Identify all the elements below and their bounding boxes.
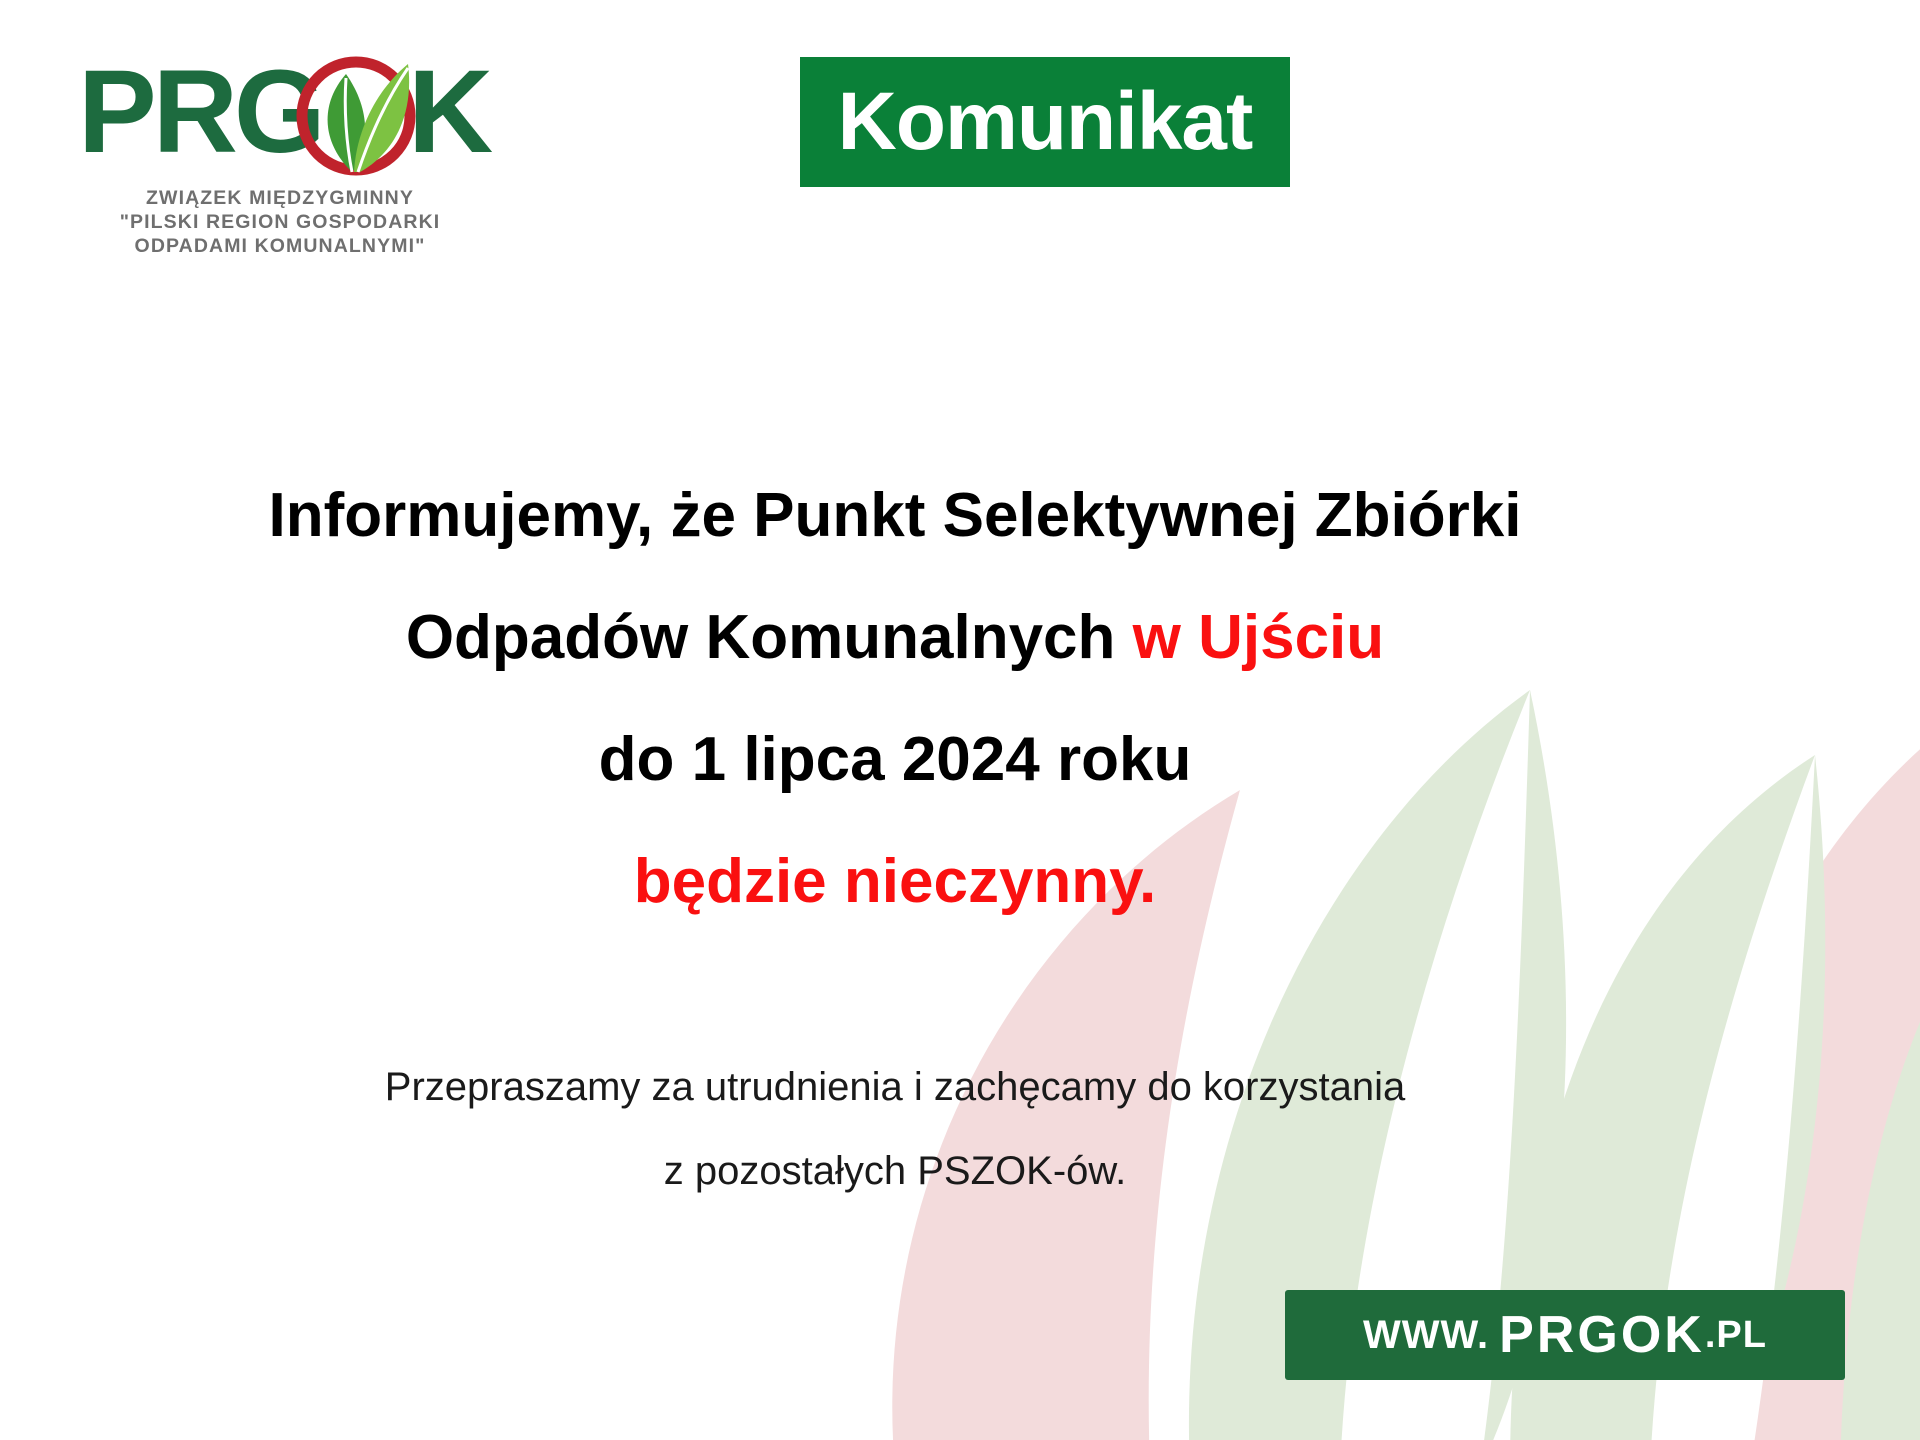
- website-badge-www: WWW.: [1363, 1313, 1489, 1358]
- website-badge-brand: PRGOK: [1499, 1305, 1705, 1365]
- apology-note-line-2: z pozostałych PSZOK-ów.: [0, 1129, 1790, 1213]
- announcement-page: PRG K ZWIĄZEK MIĘDZYGMINNY "PILSKI REGIO…: [0, 0, 1920, 1440]
- message-line-1: Informujemy, że Punkt Selektywnej Zbiórk…: [0, 455, 1790, 577]
- message-line-4: będzie nieczynny.: [0, 821, 1790, 943]
- apology-note: Przepraszamy za utrudnienia i zachęcamy …: [0, 1045, 1790, 1213]
- message-line-3-text: do 1 lipca 2024 roku: [599, 725, 1192, 794]
- logo-subtitle: ZWIĄZEK MIĘDZYGMINNY "PILSKI REGION GOSP…: [80, 186, 480, 258]
- announcement-message: Informujemy, że Punkt Selektywnej Zbiórk…: [0, 455, 1790, 943]
- prgok-logo: PRG K ZWIĄZEK MIĘDZYGMINNY "PILSKI REGIO…: [78, 48, 518, 258]
- message-line-2: Odpadów Komunalnych w Ujściu: [0, 577, 1790, 699]
- svg-text:K: K: [408, 48, 493, 178]
- message-line-3: do 1 lipca 2024 roku: [0, 699, 1790, 821]
- message-line-4-highlight: będzie nieczynny.: [634, 847, 1157, 916]
- message-line-1-text: Informujemy, że Punkt Selektywnej Zbiórk…: [269, 481, 1522, 550]
- apology-note-line-1: Przepraszamy za utrudnienia i zachęcamy …: [0, 1045, 1790, 1129]
- komunikat-banner-title: Komunikat: [838, 81, 1253, 163]
- logo-subtitle-line-1: ZWIĄZEK MIĘDZYGMINNY: [80, 186, 480, 210]
- message-line-2-highlight: w Ujściu: [1133, 603, 1385, 672]
- prgok-logo-mark: PRG K: [78, 48, 508, 178]
- website-badge-tld: .PL: [1705, 1314, 1767, 1357]
- logo-subtitle-line-2: "PILSKI REGION GOSPODARKI: [80, 210, 480, 234]
- svg-text:PRG: PRG: [78, 48, 322, 178]
- logo-subtitle-line-3: ODPADAMI KOMUNALNYMI": [80, 234, 480, 258]
- komunikat-banner: Komunikat: [800, 57, 1290, 187]
- message-line-2-text: Odpadów Komunalnych: [406, 603, 1133, 672]
- website-badge[interactable]: WWW.PRGOK.PL: [1285, 1290, 1845, 1380]
